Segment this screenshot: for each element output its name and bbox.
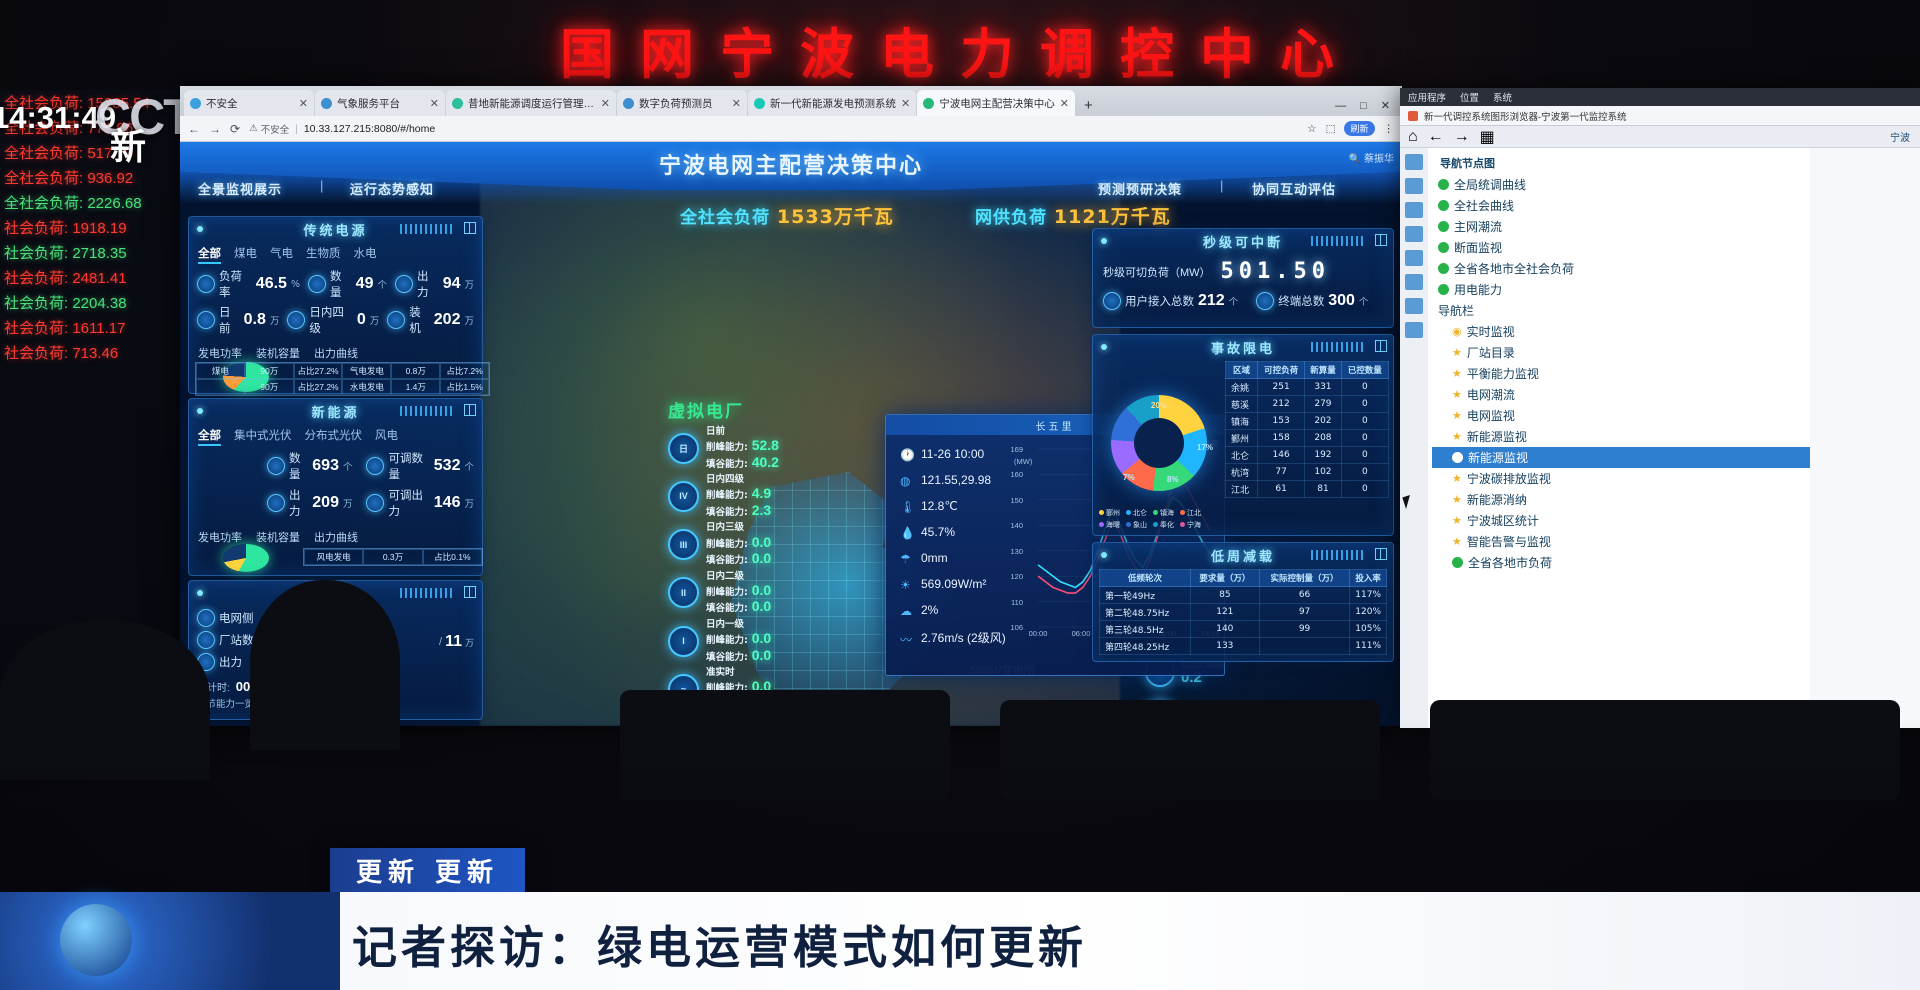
table-cell: 208 [1305, 430, 1341, 447]
nav-panorama[interactable]: 全景监视展示 [198, 179, 282, 198]
right-monitor-tab-title: 新一代调控系统图形浏览器-宁波第一代监控系统 [1424, 109, 1627, 123]
table-cell: 212 [1257, 396, 1304, 413]
tab-favicon-icon [623, 98, 634, 109]
legend-swatch-icon [1099, 510, 1104, 515]
legend-item: 象山 [1126, 520, 1147, 530]
browser-tab[interactable]: 数字负荷预测员✕ [617, 90, 747, 116]
traditional-tab[interactable]: 生物质 [306, 245, 341, 264]
star-icon: ★ [1452, 493, 1462, 506]
panel-second-level-interrupt: 秒级可中断 秒级可切负荷（MW） 501.50 用户接入总数212个终端总数30… [1092, 228, 1394, 328]
vpp-valley: 填谷能力: 0.0 [706, 550, 771, 567]
right-monitor-menubar[interactable]: 应用程序 位置 系统 [1400, 88, 1920, 106]
panel-header: 新能源 [189, 399, 482, 423]
new-energy-tabs[interactable]: 全部集中式光伏分布式光伏风电 [189, 423, 482, 448]
left-wall-row: 社会负荷: 1918.19 [0, 215, 180, 240]
url-text: 10.33.127.215:8080/#/home [304, 123, 435, 135]
metric-label: 可调出力 [388, 487, 429, 519]
table-cell: 气电发电 [342, 363, 391, 379]
table-cell: 鄞州 [1226, 430, 1258, 447]
tree-node[interactable]: ★电网监视 [1432, 405, 1810, 426]
extensions-icon[interactable]: ⬚ [1326, 123, 1336, 135]
metric: 出力209万 [267, 487, 352, 519]
legend-item: 海曙 [1099, 520, 1120, 530]
table-cell: 140 [1190, 621, 1259, 638]
metric-row: 数量693个可调数量532个 [267, 450, 474, 482]
vpp-peak: 削峰能力: 0.0 [706, 534, 771, 551]
metric-value: 0.8 [244, 311, 266, 329]
table-cell: 0 [1341, 430, 1388, 447]
low-freq-table: 低频轮次要求量（万）实际控制量（万）投入率 第一轮49Hz8566117%第二轮… [1099, 569, 1387, 655]
tree-node[interactable]: ★新能源消纳 [1432, 489, 1810, 510]
bookmark-icon[interactable]: ☆ [1307, 123, 1316, 135]
tree-node[interactable]: 新能源监视 [1432, 447, 1810, 468]
close-button[interactable]: ✕ [1381, 99, 1390, 112]
vpp-peak-value: 0.0 [748, 630, 771, 646]
tab-close-icon[interactable]: ✕ [732, 97, 741, 110]
new-energy-tab[interactable]: 集中式光伏 [234, 427, 292, 446]
menu-places[interactable]: 位置 [1460, 90, 1479, 104]
legend-label: 镇海 [1160, 509, 1174, 517]
storage-label: 厂站数 [219, 632, 254, 648]
tab-close-icon[interactable]: ✕ [430, 97, 439, 110]
table-cell: 331 [1305, 379, 1341, 396]
reading-grid-supply-value: 1121万千瓦 [1054, 206, 1171, 228]
left-wall-row: 社会负荷: 2204.38 [0, 290, 180, 315]
table-cell: 第二轮48.75Hz [1100, 604, 1191, 621]
tool-icon-1[interactable] [1405, 154, 1423, 170]
table-header-row: 低频轮次要求量（万）实际控制量（万）投入率 [1100, 570, 1387, 587]
weather-value: 12.8℃ [921, 499, 958, 513]
sub-icon [1256, 292, 1274, 310]
star-icon: ★ [1452, 388, 1462, 401]
right-monitor[interactable]: 应用程序 位置 系统 新一代调控系统图形浏览器-宁波第一代监控系统 ⌂ ← → … [1400, 88, 1920, 728]
dashboard-user[interactable]: 🔍 蔡振华 [1349, 150, 1394, 165]
lower-third-tag: 更新 更新 [330, 848, 525, 892]
new-tab-button[interactable]: + [1076, 97, 1101, 116]
forward-icon[interactable]: → [209, 122, 221, 136]
right-monitor-side [1810, 148, 1920, 728]
tree-node[interactable]: 用电能力 [1432, 279, 1810, 300]
metric: 日前0.8万 [197, 304, 279, 336]
vpp-valley: 填谷能力: 40.2 [706, 454, 779, 471]
tree-node[interactable]: 全省各地市负荷 [1432, 552, 1810, 573]
new-energy-subtab[interactable]: 发电功率 [198, 529, 242, 545]
chart-x-tick: 00:00 [1029, 629, 1048, 638]
tree-node-label: 全省各地市全社会负荷 [1454, 260, 1574, 277]
metric-icon [387, 311, 405, 329]
tab-close-icon[interactable]: ✕ [299, 97, 308, 110]
tool-icon-8[interactable] [1405, 322, 1423, 338]
table-cell: 251 [1257, 379, 1304, 396]
expand-icon[interactable] [1375, 548, 1387, 560]
expand-icon[interactable] [464, 222, 476, 234]
table-cell: 121 [1190, 604, 1259, 621]
right-monitor-tab[interactable]: 新一代调控系统图形浏览器-宁波第一代监控系统 [1400, 106, 1920, 126]
table-cell: 77 [1257, 464, 1304, 481]
tree-node[interactable]: 全社会曲线 [1432, 195, 1810, 216]
storage-icon [197, 609, 215, 627]
metric-unit: 个 [377, 277, 387, 291]
tree-node[interactable]: ◉实时监视 [1432, 321, 1810, 342]
left-wall-row: 全社会负荷: 2226.68 [0, 190, 180, 215]
weather-value: 11-26 10:00 [921, 447, 984, 461]
node-bullet-icon [1438, 242, 1449, 253]
refresh-badge[interactable]: 刷新 [1344, 121, 1374, 136]
minimize-button[interactable]: — [1335, 100, 1346, 112]
new-energy-table: 风电发电0.3万占比0.1% [303, 548, 483, 566]
node-bullet-icon [1438, 179, 1449, 190]
new-energy-gauge-area: 风电发电0.3万占比0.1% [189, 548, 482, 584]
nav-situation[interactable]: 运行态势感知 [350, 179, 434, 198]
vpp-peak: 削峰能力: 0.0 [706, 630, 771, 647]
vpp-peak-label: 削峰能力: [706, 635, 748, 646]
metric-icon [366, 457, 384, 475]
tree-node[interactable]: 全局统调曲线 [1432, 174, 1810, 195]
browser-tab[interactable]: 宁波电网主配营决策中心✕ [917, 90, 1075, 116]
table-cell: 占比7.2% [440, 363, 489, 379]
browser-tabstrip[interactable]: 不安全✕气象服务平台✕昔地新能源调度运行管理系统✕数字负荷预测员✕新一代新能源发… [180, 86, 1402, 116]
tool-icon-2[interactable] [1405, 178, 1423, 194]
tab-favicon-icon [452, 98, 463, 109]
vpp-text: 日前削峰能力: 52.8填谷能力: 40.2 [706, 426, 779, 470]
window-controls[interactable]: — □ ✕ [1335, 99, 1402, 116]
tree-node-label: 电网监视 [1467, 407, 1515, 424]
panel-header: 传统电源 [189, 217, 482, 241]
accident-table-wrap: 区域可控负荷新算量已控数量 余姚2513310慈溪2122790镇海153202… [1225, 361, 1389, 498]
metric-value: 49 [356, 275, 374, 293]
legend-label: 象山 [1133, 521, 1147, 529]
tree-node[interactable]: ★智能告警与监视 [1432, 531, 1810, 552]
tree-node[interactable]: 主网潮流 [1432, 216, 1810, 237]
table-header-row: 区域可控负荷新算量已控数量 [1226, 362, 1389, 379]
metric: 日内四级0万 [287, 304, 379, 336]
tree-node[interactable]: 导航栏 [1432, 300, 1810, 321]
table-row: 慈溪2122790 [1226, 396, 1389, 413]
new-energy-subtab[interactable]: 装机容量 [256, 529, 300, 545]
traditional-tab[interactable]: 水电 [354, 245, 377, 264]
table-cell: 117% [1350, 587, 1387, 604]
tree-panel-head: 导航节点图 [1432, 152, 1810, 174]
menu-system[interactable]: 系统 [1493, 90, 1512, 104]
expand-icon[interactable] [1375, 340, 1387, 352]
tree-node[interactable]: 断面监视 [1432, 237, 1810, 258]
table-cell: 153 [1257, 413, 1304, 430]
vpp-peak-label: 削峰能力: [706, 587, 748, 598]
search-icon[interactable]: 🔍 [1349, 154, 1361, 165]
low-freq-table-wrap: 低频轮次要求量（万）实际控制量（万）投入率 第一轮49Hz8566117%第二轮… [1093, 567, 1393, 657]
legend-item: 江北 [1180, 508, 1201, 518]
table-cell: 1.4万 [391, 379, 440, 395]
table-row: 鄞州1582080 [1226, 430, 1389, 447]
decor-bars-icon [400, 224, 452, 234]
chart-y-tick: 140 [1010, 521, 1023, 530]
metric-value: 202 [434, 311, 461, 329]
table-cell: 水电发电 [342, 379, 391, 395]
metric: 出力94万 [395, 268, 474, 300]
tool-icon-3[interactable] [1405, 202, 1423, 218]
gauge-donut [223, 544, 269, 572]
table-cell: 97 [1259, 604, 1350, 621]
menu-icon[interactable]: ⋮ [1384, 123, 1395, 135]
sub-label: 终端总数 [1278, 293, 1324, 309]
tab-close-icon[interactable]: ✕ [601, 97, 610, 110]
table-cell [196, 379, 245, 395]
storage-label: 出力 [219, 654, 242, 670]
user-name: 蔡振华 [1364, 154, 1394, 165]
tool-icon-5[interactable] [1405, 250, 1423, 266]
expand-icon[interactable] [1375, 234, 1387, 246]
vpp-valley: 填谷能力: 0.0 [706, 647, 771, 664]
vpp-peak-value: 0.0 [748, 582, 771, 598]
table-cell: 279 [1305, 396, 1341, 413]
home-icon[interactable]: ⌂ [1408, 128, 1418, 146]
traditional-subtab[interactable]: 出力曲线 [314, 345, 358, 361]
tab-label: 不安全 [206, 96, 294, 111]
tree-node[interactable]: ★新能源监视 [1432, 426, 1810, 447]
second-level-sub: 用户接入总数212个终端总数300个 [1093, 290, 1393, 312]
grid-icon[interactable]: ▦ [1480, 127, 1495, 147]
legend-label: 奉化 [1160, 521, 1174, 529]
vpp-badge-icon: 日 [668, 433, 699, 464]
traditional-subtab[interactable]: 发电功率 [198, 345, 242, 361]
vpp-valley-label: 填谷能力: [706, 507, 748, 518]
table-row: 余姚2513310 [1226, 379, 1389, 396]
reload-icon[interactable]: ⟳ [230, 122, 240, 136]
panel-header: 事故限电 [1093, 335, 1393, 359]
clock-icon: 🕐 [900, 448, 913, 461]
table-header-cell: 可控负荷 [1257, 362, 1304, 379]
star-icon: ★ [1452, 535, 1462, 548]
lower-third: 更新 更新 记者探访：绿电运营模式如何更新 [0, 718, 1920, 990]
irradiance-icon: ☀ [900, 578, 913, 591]
toolbar-label: 宁波 [1890, 129, 1920, 144]
tree-node-label: 平衡能力监视 [1467, 365, 1539, 382]
table-cell: 0 [1341, 481, 1388, 498]
vpp-badge-icon: IV [668, 481, 699, 512]
back-icon[interactable]: ← [188, 122, 200, 136]
table-cell: 102 [1305, 464, 1341, 481]
tab-favicon-icon [190, 98, 201, 109]
metric-icon [267, 457, 285, 475]
reading-grid-supply-label: 网供负荷 [975, 208, 1047, 228]
tree-node[interactable]: ★宁波城区统计 [1432, 510, 1810, 531]
menu-applications[interactable]: 应用程序 [1408, 90, 1446, 104]
vpp-valley-value: 2.3 [748, 502, 771, 518]
right-monitor-icon-rail[interactable] [1400, 148, 1428, 728]
forward-icon[interactable]: → [1454, 128, 1470, 146]
traditional-tab[interactable]: 煤电 [234, 245, 257, 264]
node-bullet-icon [1438, 263, 1449, 274]
table-cell: 第三轮48.5Hz [1100, 621, 1191, 638]
donut-legend: 鄞州北仑镇海江北海曙象山奉化宁海 [1099, 508, 1219, 530]
vpp-rows: 日日前削峰能力: 52.8填谷能力: 40.2IV日内四级削峰能力: 4.9填谷… [668, 426, 828, 711]
browser-omnibox[interactable]: ← → ⟳ ⚠ 不安全 | 10.33.127.215:8080/#/home … [180, 116, 1402, 142]
tab-close-icon[interactable]: ✕ [1060, 97, 1069, 110]
tab-favicon-icon [754, 98, 765, 109]
metric-unit: 万 [370, 313, 380, 327]
browser-tab[interactable]: 气象服务平台✕ [315, 90, 445, 116]
table-cell: 0.3万 [363, 549, 422, 565]
browser-tab[interactable]: 昔地新能源调度运行管理系统✕ [446, 90, 616, 116]
weather-value: 45.7% [921, 525, 955, 539]
new-energy-subtab[interactable]: 出力曲线 [314, 529, 358, 545]
storage-unit: 万 [465, 636, 474, 649]
vpp-text: 日内四级削峰能力: 4.9填谷能力: 2.3 [706, 474, 771, 518]
vpp-peak-value: 0.0 [748, 534, 771, 550]
new-energy-metrics: 数量693个可调数量532个出力209万可调出力146万 [189, 448, 482, 526]
humidity-icon: 💧 [900, 526, 913, 539]
table-cell: 占比1.5% [440, 379, 489, 395]
second-level-sub-item: 终端总数300个 [1256, 292, 1368, 310]
table-row: 第一轮49Hz8566117% [1100, 587, 1387, 604]
browser-tab[interactable]: 不安全✕ [184, 90, 314, 116]
table-header-cell: 已控数量 [1341, 362, 1388, 379]
tool-icon-7[interactable] [1405, 298, 1423, 314]
table-header-cell: 实际控制量（万） [1259, 570, 1350, 587]
omnibox-actions[interactable]: ☆ ⬚ 刷新 ⋮ [1307, 121, 1394, 136]
metric-icon [308, 275, 326, 293]
reading-total-load-value: 1533万千瓦 [777, 206, 894, 228]
tree-node-label: 全省各地市负荷 [1468, 554, 1552, 571]
tree-node-list[interactable]: 全局统调曲线全社会曲线主网潮流断面监视全省各地市全社会负荷用电能力导航栏◉实时监… [1432, 174, 1810, 573]
rain-icon: ☂ [900, 552, 913, 565]
new-energy-tab[interactable]: 风电 [375, 427, 398, 446]
tree-node-label: 全社会曲线 [1454, 197, 1514, 214]
app-icon [1408, 111, 1418, 121]
table-cell: 北仑 [1226, 447, 1258, 464]
tree-node[interactable]: ★平衡能力监视 [1432, 363, 1810, 384]
traditional-tab[interactable]: 气电 [270, 245, 293, 264]
tree-node[interactable]: ★宁波碳排放监视 [1432, 468, 1810, 489]
right-monitor-tree[interactable]: 导航节点图 全局统调曲线全社会曲线主网潮流断面监视全省各地市全社会负荷用电能力导… [1428, 148, 1810, 728]
vpp-peak-value: 52.8 [748, 437, 779, 453]
traditional-subtabs[interactable]: 发电功率装机容量出力曲线 [189, 342, 482, 364]
tree-node[interactable]: ★厂站目录 [1432, 342, 1810, 363]
table-header-cell: 低频轮次 [1100, 570, 1191, 587]
vpp-period: 日前 [706, 426, 779, 437]
address-bar[interactable]: ⚠ 不安全 | 10.33.127.215:8080/#/home [249, 122, 1298, 136]
metric: 可调数量532个 [366, 450, 474, 482]
donut-label-4: 8% [1167, 475, 1179, 484]
tab-label: 气象服务平台 [337, 96, 425, 111]
panel-header: 秒级可中断 [1093, 229, 1393, 253]
metric-label: 数量 [289, 450, 308, 482]
vpp-row: I日内一级削峰能力: 0.0填谷能力: 0.0 [668, 619, 828, 663]
table-header-cell: 要求量（万） [1190, 570, 1259, 587]
table-cell: 0 [1341, 413, 1388, 430]
table-cell: 第四轮48.25Hz [1100, 638, 1191, 655]
table-row: 北仑1461920 [1226, 447, 1389, 464]
tab-close-icon[interactable]: ✕ [901, 97, 910, 110]
metric-value: 46.5 [256, 275, 287, 293]
traditional-tab[interactable]: 全部 [198, 245, 221, 264]
metric-label: 日内四级 [309, 304, 352, 336]
metric-row: 日前0.8万日内四级0万装机202万 [197, 304, 474, 336]
legend-swatch-icon [1180, 510, 1185, 515]
table-cell: 0 [1341, 464, 1388, 481]
expand-icon[interactable] [464, 404, 476, 416]
legend-item: 奉化 [1153, 520, 1174, 530]
right-monitor-toolbar[interactable]: ⌂ ← → ▦ 宁波 [1400, 126, 1920, 148]
star-icon: ★ [1452, 346, 1462, 359]
table-cell: 占比27.2% [294, 379, 343, 395]
vpp-peak: 削峰能力: 4.9 [706, 485, 771, 502]
table-cell: 慈溪 [1226, 396, 1258, 413]
legend-label: 江北 [1187, 509, 1201, 517]
vpp-valley-value: 0.0 [748, 598, 771, 614]
storage-slash: / [439, 636, 442, 648]
table-cell: 202 [1305, 413, 1341, 430]
reading-total-load: 全社会负荷 1533万千瓦 [680, 202, 894, 229]
vpp-period: 日内三级 [706, 522, 771, 533]
maximize-button[interactable]: □ [1360, 100, 1367, 112]
tree-node[interactable]: ★电网潮流 [1432, 384, 1810, 405]
second-level-main: 秒级可切负荷（MW） 501.50 [1093, 253, 1393, 290]
new-energy-tab[interactable]: 分布式光伏 [305, 427, 363, 446]
tab-favicon-icon [923, 98, 934, 109]
weather-value: 2.76m/s (2级风) [921, 629, 1006, 646]
browser-tab[interactable]: 新一代新能源发电预测系统✕ [748, 90, 916, 116]
tree-node-label: 用电能力 [1454, 281, 1502, 298]
metric-label: 可调数量 [388, 450, 429, 482]
tree-node[interactable]: 全省各地市全社会负荷 [1432, 258, 1810, 279]
metric-value: 532 [434, 457, 461, 475]
tab-list[interactable]: 不安全✕气象服务平台✕昔地新能源调度运行管理系统✕数字负荷预测员✕新一代新能源发… [184, 90, 1076, 116]
table-row: 第二轮48.75Hz12197120% [1100, 604, 1387, 621]
legend-swatch-icon [1126, 510, 1131, 515]
expand-icon[interactable] [464, 586, 476, 598]
table-cell [1259, 638, 1350, 655]
nav-forecast[interactable]: 预测预研决策 [1098, 179, 1182, 198]
security-indicator[interactable]: ⚠ 不安全 [249, 122, 289, 136]
chart-y-tick: 160 [1010, 470, 1023, 479]
new-energy-subtabs[interactable]: 发电功率装机容量出力曲线 [189, 526, 482, 548]
sub-unit: 个 [1229, 294, 1239, 308]
tool-icon-4[interactable] [1405, 226, 1423, 242]
donut-label-2: 17% [1197, 443, 1213, 452]
table-cell: 158 [1257, 430, 1304, 447]
vpp-row: IV日内四级削峰能力: 4.9填谷能力: 2.3 [668, 474, 828, 518]
table-cell: 133 [1190, 638, 1259, 655]
panel-new-energy: 新能源 全部集中式光伏分布式光伏风电 数量693个可调数量532个出力209万可… [188, 398, 483, 576]
chart-y-tick: 169 [1010, 445, 1023, 454]
vpp-badge-icon: II [668, 577, 699, 608]
weather-value: 569.09W/m² [921, 577, 986, 591]
metric-row: 负荷率46.5%数量49个出力94万 [197, 268, 474, 300]
node-bullet-icon [1452, 557, 1463, 568]
table-cell: 85 [1190, 587, 1259, 604]
tree-node-label: 新能源消纳 [1467, 491, 1527, 508]
back-icon[interactable]: ← [1428, 128, 1444, 146]
table-row: 江北61810 [1226, 481, 1389, 498]
nav-coordination[interactable]: 协同互动评估 [1252, 179, 1336, 198]
new-energy-tab[interactable]: 全部 [198, 427, 221, 446]
tool-icon-6[interactable] [1405, 274, 1423, 290]
panel-accident-power-cut: 事故限电 20% 17% 7% 8% 鄞州北仑镇海江北海曙象山奉化宁海 区域可控… [1092, 334, 1394, 536]
traditional-subtab[interactable]: 装机容量 [256, 345, 300, 361]
donut-label-1: 20% [1151, 401, 1167, 410]
traditional-tabs[interactable]: 全部煤电气电生物质水电 [189, 241, 482, 266]
tree-node-label: 宁波碳排放监视 [1467, 470, 1551, 487]
chart-y-tick: 106 [1010, 623, 1023, 632]
decor-bars-icon [1311, 236, 1363, 246]
vpp-row: III日内三级削峰能力: 0.0填谷能力: 0.0 [668, 522, 828, 566]
legend-item: 宁海 [1180, 520, 1201, 530]
traditional-metrics: 负荷率46.5%数量49个出力94万日前0.8万日内四级0万装机202万 [189, 266, 482, 342]
tab-label: 新一代新能源发电预测系统 [770, 96, 896, 111]
vpp-text: 日内一级削峰能力: 0.0填谷能力: 0.0 [706, 619, 771, 663]
circle-icon: ◉ [1452, 325, 1462, 338]
